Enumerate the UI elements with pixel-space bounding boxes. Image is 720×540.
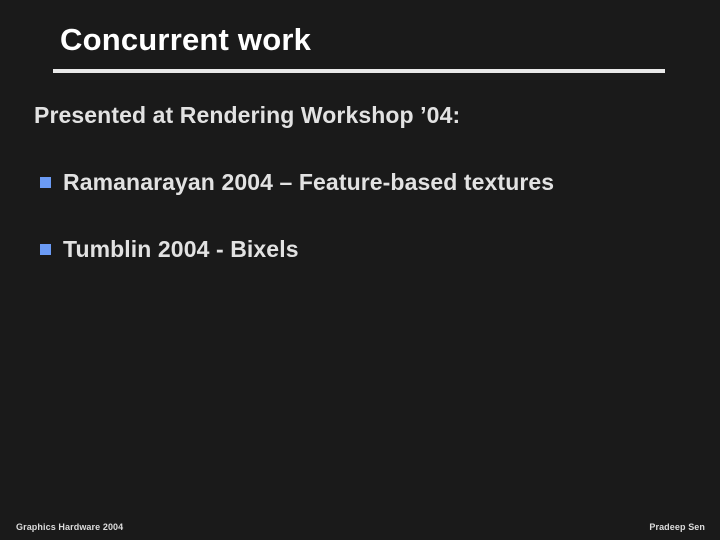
list-item: Tumblin 2004 - Bixels: [34, 235, 694, 263]
page-title: Concurrent work: [60, 22, 311, 58]
list-item: Ramanarayan 2004 – Feature-based texture…: [34, 168, 694, 196]
square-bullet-icon: [40, 244, 51, 255]
square-bullet-icon: [40, 177, 51, 188]
presentation-slide: Concurrent work Presented at Rendering W…: [0, 0, 720, 540]
footer-conference-label: Graphics Hardware 2004: [16, 522, 123, 532]
lead-text: Presented at Rendering Workshop ’04:: [34, 101, 694, 129]
slide-body: Presented at Rendering Workshop ’04: Ram…: [34, 101, 694, 263]
footer-author-label: Pradeep Sen: [649, 522, 705, 532]
list-item-label: Tumblin 2004 - Bixels: [63, 236, 299, 262]
bullet-list: Ramanarayan 2004 – Feature-based texture…: [34, 168, 694, 263]
title-divider: [53, 69, 665, 73]
list-item-label: Ramanarayan 2004 – Feature-based texture…: [63, 169, 554, 195]
